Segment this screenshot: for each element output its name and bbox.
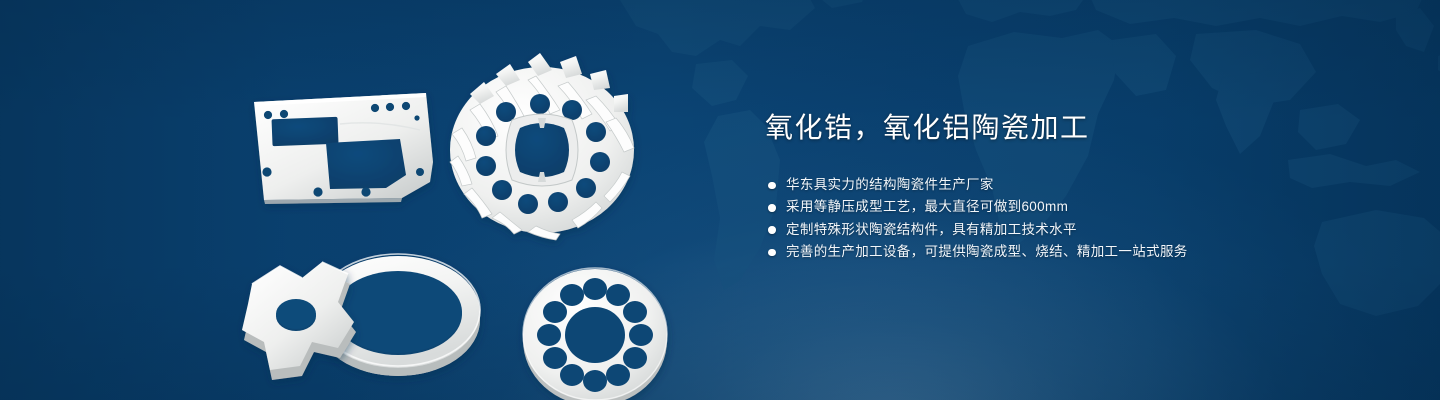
list-item: 华东具实力的结构陶瓷件生产厂家	[765, 174, 1385, 196]
bullet-dot-icon	[768, 182, 776, 190]
promo-banner: 氧化锆，氧化铝陶瓷加工 华东具实力的结构陶瓷件生产厂家 采用等静压成型工艺，最大…	[0, 0, 1440, 400]
bullet-dot-icon	[768, 226, 776, 234]
feature-list: 华东具实力的结构陶瓷件生产厂家 采用等静压成型工艺，最大直径可做到600mm 定…	[765, 174, 1385, 264]
product-ceramic-cross-plate	[242, 262, 356, 380]
product-ceramic-impeller-disc	[450, 53, 634, 240]
product-ceramic-perforated-disc	[523, 268, 667, 400]
feature-text: 定制特殊形状陶瓷结构件，具有精加工技术水平	[786, 222, 1077, 237]
product-ceramic-machined-plate	[254, 93, 433, 204]
ceramic-products-collage	[230, 40, 700, 380]
list-item: 采用等静压成型工艺，最大直径可做到600mm	[765, 196, 1385, 218]
page-title: 氧化锆，氧化铝陶瓷加工	[765, 108, 1385, 148]
feature-text: 采用等静压成型工艺，最大直径可做到600mm	[786, 199, 1068, 214]
feature-text: 完善的生产加工设备，可提供陶瓷成型、烧结、精加工一站式服务	[786, 244, 1188, 259]
list-item: 定制特殊形状陶瓷结构件，具有精加工技术水平	[765, 219, 1385, 241]
bullet-dot-icon	[768, 204, 776, 212]
feature-text: 华东具实力的结构陶瓷件生产厂家	[786, 177, 994, 192]
bullet-dot-icon	[768, 249, 776, 257]
banner-copy: 氧化锆，氧化铝陶瓷加工 华东具实力的结构陶瓷件生产厂家 采用等静压成型工艺，最大…	[765, 108, 1385, 264]
list-item: 完善的生产加工设备，可提供陶瓷成型、烧结、精加工一站式服务	[765, 241, 1385, 263]
